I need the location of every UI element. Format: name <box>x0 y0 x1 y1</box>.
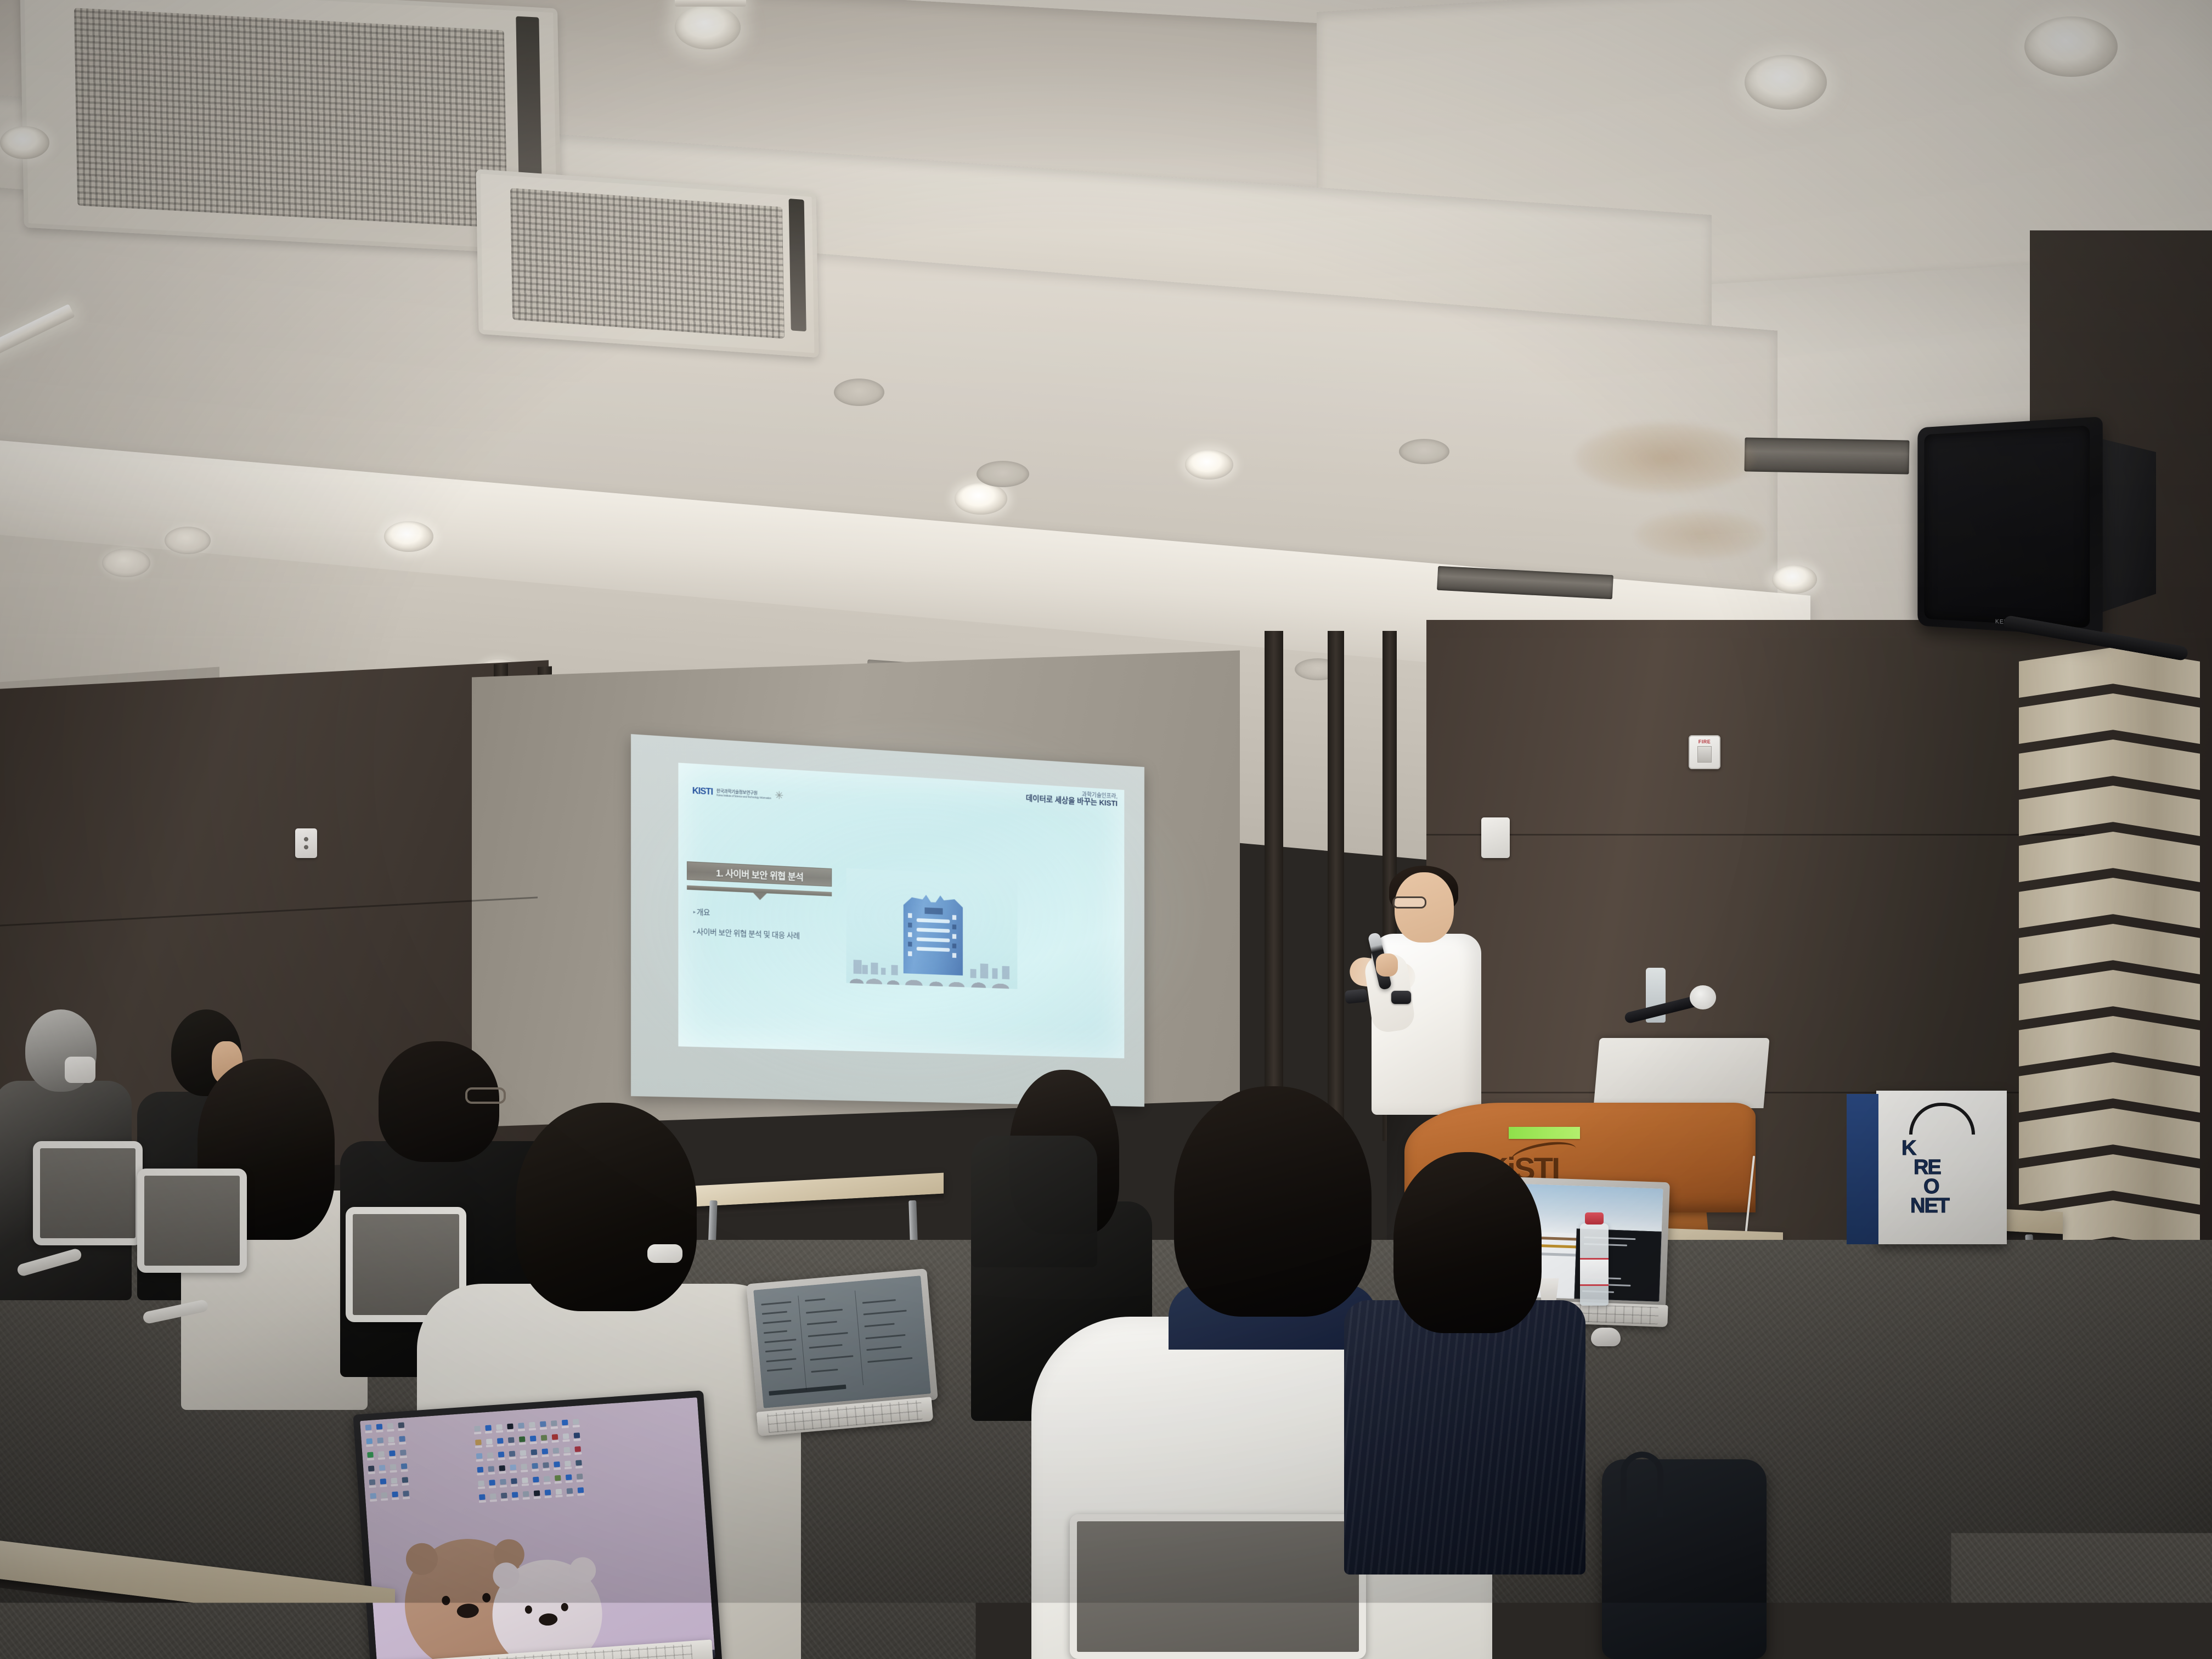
attendee-8 <box>1344 1152 1585 1569</box>
wireless-mouse[interactable] <box>1591 1328 1621 1346</box>
laptop-lid <box>353 1390 722 1659</box>
file-listing-window[interactable] <box>753 1276 931 1408</box>
bag-text-line: K <box>1901 1139 1949 1158</box>
ceiling-speaker-icon <box>977 461 1029 487</box>
ceiling-downlight <box>1745 55 1827 110</box>
desktop-icon-cluster-right[interactable] <box>473 1419 585 1506</box>
slide-bullet: 사이버 보안 위협 분석 및 대응 사례 <box>693 926 800 941</box>
kisti-logo: KISTI 한국과학기술정보연구원 Korea Institute of Sci… <box>692 786 786 802</box>
ceiling-vent <box>1744 437 1909 474</box>
ceiling-downlight <box>1185 450 1233 479</box>
desktop-wallpaper <box>360 1397 715 1659</box>
podium-laptop[interactable] <box>1593 1038 1769 1108</box>
building-tower <box>904 894 963 975</box>
wall-seam <box>1426 834 2085 836</box>
ceiling-downlight <box>165 527 211 554</box>
front-laptop[interactable] <box>353 1390 722 1659</box>
bag-side-panel <box>1847 1094 1878 1244</box>
slide-bullet: 개요 <box>693 906 800 922</box>
eyeglasses-icon <box>465 1087 506 1104</box>
bag-brand-text: K RE O NET <box>1901 1139 1949 1216</box>
bag-handle <box>1909 1103 1975 1135</box>
bag-text-line: NET <box>1910 1197 1949 1216</box>
fire-panel-label: FIRE <box>1699 739 1711 744</box>
ceiling-ac-unit <box>476 169 819 358</box>
attendee-8-head <box>1393 1152 1542 1333</box>
chair[interactable] <box>33 1141 143 1245</box>
ceiling-downlight <box>955 483 1007 515</box>
attendee-back-center <box>966 1042 1097 1262</box>
ceiling-downlight <box>0 126 49 159</box>
chair[interactable] <box>137 1169 247 1273</box>
attendee-5-head <box>516 1103 697 1311</box>
backpack-strap <box>1621 1452 1663 1517</box>
power-outlet[interactable] <box>295 828 317 858</box>
eyeglasses-icon <box>1392 896 1426 909</box>
ceiling-speaker-icon <box>1399 439 1449 464</box>
slide-bullet-list: 개요 사이버 보안 위협 분석 및 대응 사례 <box>693 906 800 950</box>
sparkle-icon: ✳ <box>775 790 785 802</box>
ac-grille-icon <box>74 8 507 228</box>
presentation-clicker[interactable] <box>1345 989 1368 1004</box>
slide-section-title: 1. 사이버 보안 위협 분석 <box>716 865 803 883</box>
slide-tagline: 과학기술인프라, 데이터로 세상을 바꾸는 KISTI <box>1026 788 1118 809</box>
middle-laptop[interactable] <box>746 1268 938 1415</box>
bottle-cap <box>1585 1212 1604 1224</box>
slide-section-title-bar: 1. 사이버 보안 위협 분석 <box>687 861 832 887</box>
ceiling-speaker-icon <box>834 379 884 406</box>
presenter-hand <box>1376 953 1398 977</box>
backpack[interactable] <box>1602 1459 1767 1659</box>
wall-panel-divider <box>1265 631 1283 1125</box>
smartwatch <box>1391 991 1411 1004</box>
slide-surface: 과학기술인프라, 데이터로 세상을 바꾸는 KISTI KISTI 한국과학기술… <box>678 763 1124 1058</box>
ceiling-downlight <box>675 5 741 49</box>
laptop-screen[interactable] <box>360 1397 715 1659</box>
slide-building-image <box>847 868 1018 989</box>
ceiling-downlight <box>102 549 150 577</box>
desktop-icon-cluster-left[interactable] <box>365 1422 410 1505</box>
ceiling-downlight <box>1772 565 1817 594</box>
wall-panel-divider <box>1328 631 1344 1136</box>
bag-text-line: O <box>1923 1177 1949 1197</box>
kreonet-shopping-bag[interactable]: K RE O NET <box>1876 1091 2007 1244</box>
speaker-grille-icon <box>1925 425 2090 628</box>
slide-title-underline <box>687 885 832 896</box>
seminar-room-photo: LG <box>0 0 2212 1659</box>
laptop-screen[interactable] <box>753 1276 931 1408</box>
podium-tape-marker <box>1509 1127 1580 1139</box>
ceiling-downlight <box>384 521 433 552</box>
ceiling-water-stain <box>1635 510 1767 560</box>
chair[interactable] <box>1070 1514 1366 1659</box>
wall-speaker: KEVIC <box>1917 416 2102 637</box>
fire-alarm-panel[interactable]: FIRE <box>1689 735 1720 769</box>
ac-vent-slot <box>789 199 806 331</box>
wall-sensor <box>1481 817 1510 858</box>
attendee-7-head <box>1174 1086 1372 1317</box>
podium-microphone-head <box>1690 985 1716 1009</box>
ceiling-downlight <box>2024 16 2118 77</box>
fire-panel-button-icon[interactable] <box>1697 746 1712 763</box>
ac-grille-icon <box>510 188 785 338</box>
ceiling-water-stain <box>1575 422 1756 494</box>
face-mask-icon <box>65 1057 95 1083</box>
laptop-lid <box>746 1268 938 1415</box>
bag-text-line: RE <box>1914 1158 1949 1177</box>
kisti-logo-mark: KISTI <box>692 786 713 798</box>
face-mask-icon <box>647 1244 682 1263</box>
ceiling-slot-light <box>675 0 746 7</box>
kisti-logo-korean: 한국과학기술정보연구원 Korea Institute of Science a… <box>716 788 771 800</box>
